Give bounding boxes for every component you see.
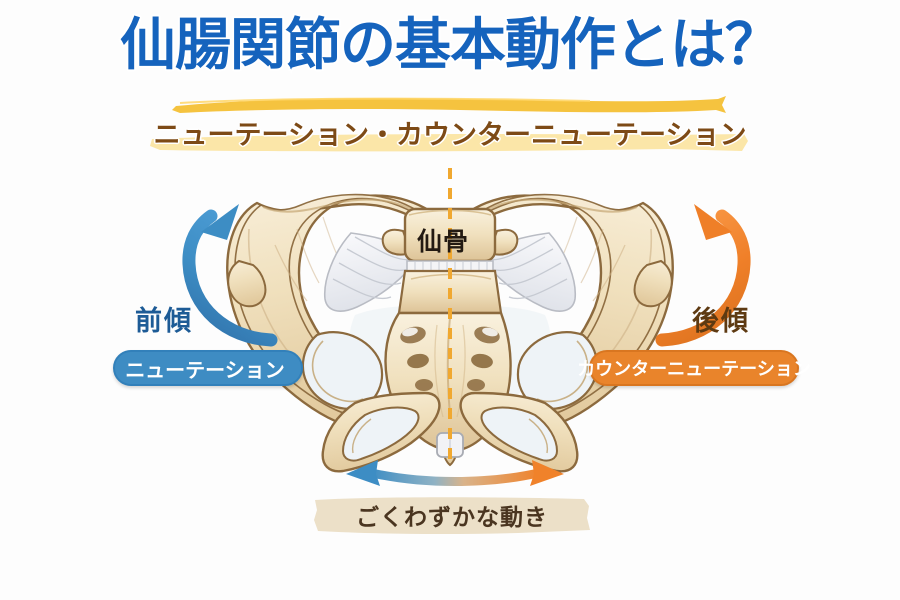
title-block: 仙腸関節の基本動作とは？ [0,18,900,74]
counternutation-badge[interactable]: カウンターニューテーション [589,350,799,386]
title-underline-brush [170,94,730,114]
center-axis-dashed-line [448,168,452,468]
anterior-tilt-arrow-icon [175,190,295,350]
motion-caption-text: ごくわずかな動き [312,494,592,536]
page-subtitle: ニューテーション・カウンターニューテーション [0,113,900,152]
nutation-badge[interactable]: ニューテーション [113,350,303,386]
anterior-tilt-label: 前傾 [135,299,193,338]
posterior-tilt-label: 後傾 [692,299,750,338]
range-of-motion-arrow-icon [340,452,570,494]
infographic-canvas: 仙腸関節の基本動作とは？ ニューテーション・カウンターニューテーション [0,0,900,600]
page-title: 仙腸関節の基本動作とは？ [0,18,900,74]
sacrum-label: 仙骨 [417,222,469,258]
subtitle-block: ニューテーション・カウンターニューテーション [0,113,900,152]
